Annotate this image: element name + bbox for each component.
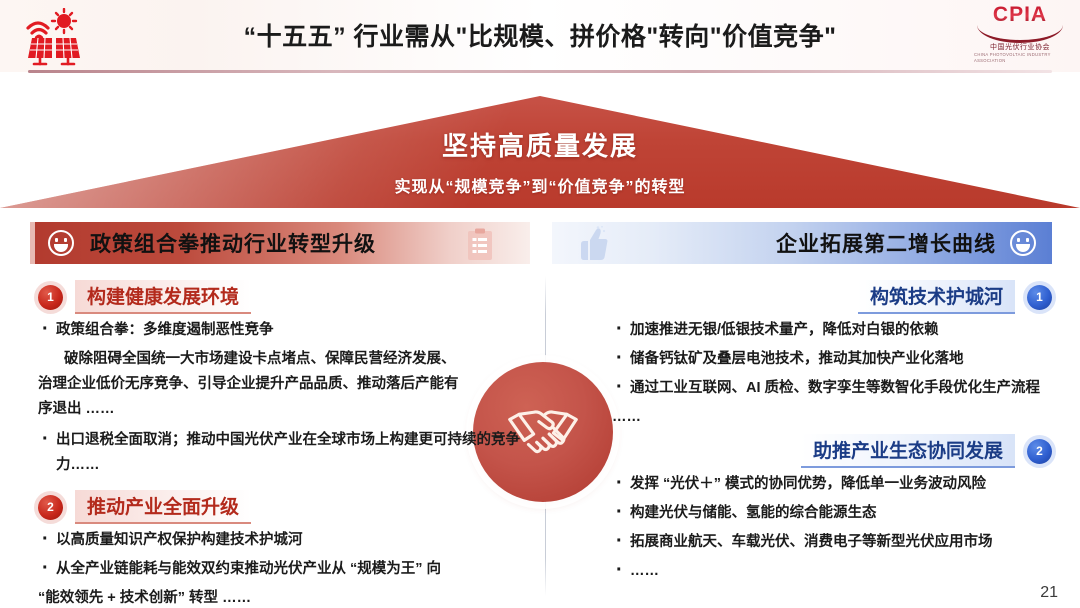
roof-title: 坚持高质量发展	[442, 126, 638, 163]
slide-header: “十五五” 行业需从"比规模、拼价格"转向"价值竞争" CPIA 中国光伏行业协…	[0, 0, 1080, 72]
left-content-column: 1 构建健康发展环境 政策组合拳：多维度遏制恶性竞争 破除阻碍全国统一大市场建设…	[38, 282, 528, 608]
list-item: 储备钙钛矿及叠层电池技术，推动其加快产业化落地	[612, 347, 1052, 372]
right-section-bar-title: 企业拓展第二增长曲线	[776, 228, 996, 258]
list-item-continuation: ……	[612, 405, 1052, 430]
header-divider-rule	[28, 70, 1052, 73]
section-number-badge: 1	[1027, 285, 1052, 310]
smiley-eye-left	[1017, 238, 1020, 242]
right-section-1-list: 加速推进无银/低银技术量产，降低对白银的依赖 储备钙钛矿及叠层电池技术，推动其加…	[612, 318, 1052, 430]
right-content-column: 构筑技术护城河 1 加速推进无银/低银技术量产，降低对白银的依赖 储备钙钛矿及叠…	[612, 282, 1052, 588]
list-item: 加速推进无银/低银技术量产，降低对白银的依赖	[612, 318, 1052, 343]
left-section-1-list-2: 出口退税全面取消；推动中国光伏产业在全球市场上构建更可持续的竞争力……	[38, 428, 528, 478]
roof-subtitle: 实现从“规模竞争”到“价值竞争”的转型	[394, 173, 685, 197]
slide-root: “十五五” 行业需从"比规模、拼价格"转向"价值竞争" CPIA 中国光伏行业协…	[0, 0, 1080, 608]
smiley-face-icon	[1010, 230, 1036, 256]
thumbs-up-icon	[576, 226, 610, 262]
list-item-continuation: “能效领先 + 技术创新” 转型 ……	[38, 586, 528, 608]
left-section-2-header: 2 推动产业全面升级	[38, 492, 528, 522]
cpia-wordmark: CPIA	[993, 4, 1047, 26]
left-bar-accent-stripe	[30, 222, 35, 264]
cpia-chinese-name: 中国光伏行业协会	[990, 44, 1050, 52]
smiley-mouth	[1016, 244, 1030, 252]
list-item: 政策组合拳：多维度遏制恶性竞争	[38, 318, 528, 343]
cpia-arc	[977, 25, 1063, 43]
section-title: 助推产业生态协同发展	[801, 434, 1015, 468]
smiley-eye-left	[55, 238, 58, 242]
right-section-2-header: 助推产业生态协同发展 2	[612, 436, 1052, 466]
page-number: 21	[1040, 584, 1058, 602]
cpia-logo: CPIA 中国光伏行业协会 CHINA PHOTOVOLTAIC INDUSTR…	[974, 4, 1066, 66]
solar-panel-logo-icon	[18, 8, 92, 66]
section-title: 构建健康发展环境	[75, 280, 251, 314]
left-section-1-paragraph: 破除阻碍全国统一大市场建设卡点堵点、保障民营经济发展、治理企业低价无序竞争、引导…	[38, 347, 468, 422]
smiley-eye-right	[1026, 238, 1029, 242]
left-section-1-header: 1 构建健康发展环境	[38, 282, 528, 312]
smiley-eye-right	[64, 238, 67, 242]
right-section-2-list: 发挥 “光伏＋” 模式的协同优势，降低单一业务波动风险 构建光伏与储能、氢能的综…	[612, 472, 1052, 584]
list-item: 构建光伏与储能、氢能的综合能源生态	[612, 501, 1052, 526]
list-item: 出口退税全面取消；推动中国光伏产业在全球市场上构建更可持续的竞争力……	[38, 428, 528, 478]
section-number-badge: 2	[38, 495, 63, 520]
list-item: 通过工业互联网、AI 质检、数字孪生等数智化手段优化生产流程	[612, 376, 1052, 401]
list-item: 从全产业链能耗与能效双约束推动光伏产业从 “规模为王” 向	[38, 557, 528, 582]
roof-text-block: 坚持高质量发展 实现从“规模竞争”到“价值竞争”的转型	[0, 126, 1080, 197]
left-section-bar-title: 政策组合拳推动行业转型升级	[90, 228, 376, 258]
right-section-1-header: 构筑技术护城河 1	[612, 282, 1052, 312]
smiley-face-icon	[48, 230, 74, 256]
list-item: 以高质量知识产权保护构建技术护城河	[38, 528, 528, 553]
list-item: 拓展商业航天、车载光伏、消费电子等新型光伏应用市场	[612, 530, 1052, 555]
section-title: 构筑技术护城河	[858, 280, 1015, 314]
left-section-2-list: 以高质量知识产权保护构建技术护城河 从全产业链能耗与能效双约束推动光伏产业从 “…	[38, 528, 528, 608]
roof-banner: 坚持高质量发展 实现从“规模竞争”到“价值竞争”的转型	[0, 96, 1080, 208]
smiley-mouth	[54, 244, 68, 252]
list-item: ……	[612, 559, 1052, 584]
section-number-badge: 1	[38, 285, 63, 310]
right-section-bar: 企业拓展第二增长曲线	[552, 222, 1052, 264]
list-item: 发挥 “光伏＋” 模式的协同优势，降低单一业务波动风险	[612, 472, 1052, 497]
page-title: “十五五” 行业需从"比规模、拼价格"转向"价值竞争"	[120, 0, 960, 70]
clipboard-icon	[466, 228, 494, 262]
left-section-bar: 政策组合拳推动行业转型升级	[30, 222, 530, 264]
cpia-english-name: CHINA PHOTOVOLTAIC INDUSTRY ASSOCIATION	[974, 52, 1066, 64]
left-section-1-list: 政策组合拳：多维度遏制恶性竞争	[38, 318, 528, 343]
section-title: 推动产业全面升级	[75, 490, 251, 524]
section-number-badge: 2	[1027, 439, 1052, 464]
